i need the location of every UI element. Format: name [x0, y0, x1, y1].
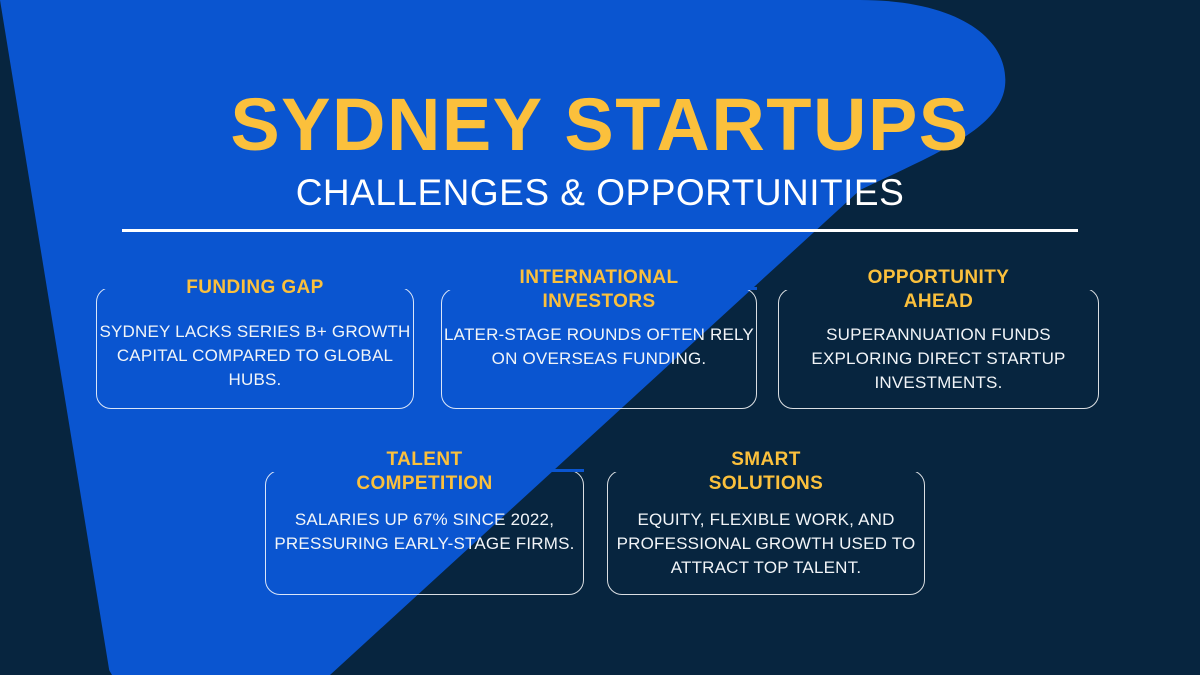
card-heading-line: FUNDING GAP [96, 276, 414, 300]
card-heading-line: COMPETITION [265, 472, 584, 496]
card-body-text: SUPERANNUATION FUNDS EXPLORING DIRECT ST… [778, 323, 1099, 395]
slide-canvas: SYDNEY STARTUPS CHALLENGES & OPPORTUNITI… [0, 0, 1200, 675]
page-subtitle: CHALLENGES & OPPORTUNITIES [0, 173, 1200, 213]
card-heading: SMART SOLUTIONS [607, 448, 925, 496]
card-heading-line: SMART [607, 448, 925, 472]
card-heading: TALENT COMPETITION [265, 448, 584, 496]
card-heading-line: TALENT [265, 448, 584, 472]
card-body-text: EQUITY, FLEXIBLE WORK, AND PROFESSIONAL … [607, 508, 925, 580]
card-heading-line: INTERNATIONAL [441, 266, 757, 290]
card-funding-gap[interactable]: FUNDING GAP SYDNEY LACKS SERIES B+ GROWT… [96, 276, 414, 409]
card-heading-line: AHEAD [778, 290, 1099, 314]
card-body-text: SALARIES UP 67% SINCE 2022, PRESSURING E… [265, 508, 584, 556]
card-heading: FUNDING GAP [96, 276, 414, 300]
card-body-text: LATER-STAGE ROUNDS OFTEN RELY ON OVERSEA… [441, 323, 757, 371]
card-international-investors[interactable]: INTERNATIONAL INVESTORS LATER-STAGE ROUN… [441, 266, 757, 409]
card-heading: OPPORTUNITY AHEAD [778, 266, 1099, 314]
header-divider [122, 229, 1078, 232]
card-opportunity-ahead[interactable]: OPPORTUNITY AHEAD SUPERANNUATION FUNDS E… [778, 266, 1099, 409]
card-body-text: SYDNEY LACKS SERIES B+ GROWTH CAPITAL CO… [96, 320, 414, 392]
page-title: SYDNEY STARTUPS [0, 88, 1200, 162]
card-smart-solutions[interactable]: SMART SOLUTIONS EQUITY, FLEXIBLE WORK, A… [607, 448, 925, 595]
card-heading-line: OPPORTUNITY [778, 266, 1099, 290]
card-heading-line: SOLUTIONS [607, 472, 925, 496]
card-talent-competition[interactable]: TALENT COMPETITION SALARIES UP 67% SINCE… [265, 448, 584, 595]
card-heading: INTERNATIONAL INVESTORS [441, 266, 757, 314]
card-heading-line: INVESTORS [441, 290, 757, 314]
